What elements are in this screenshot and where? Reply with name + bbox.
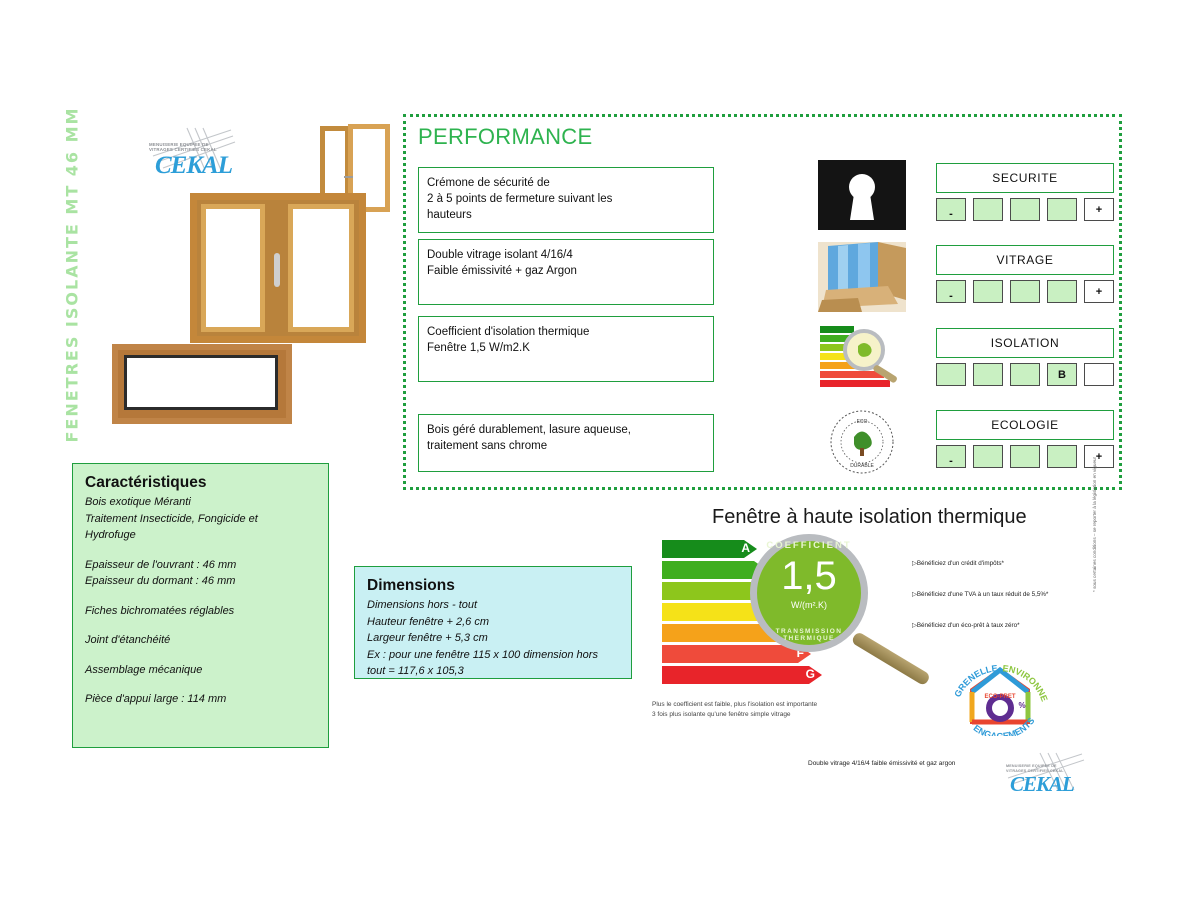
coefficient-value: 1,5 [750, 556, 868, 596]
performance-item-3-line1: Bois géré durablement, lasure aqueuse, [427, 422, 705, 438]
legal-sidenote: * sous certaines conditions – se reporte… [1092, 457, 1097, 592]
thermal-footnote-line2: 3 fois plus isolante qu'une fenêtre simp… [652, 710, 817, 720]
energy-magnifier-glyph [818, 324, 906, 394]
energy-magnifier-icon [818, 324, 906, 394]
performance-item-1: Double vitrage isolant 4/16/4 Faible émi… [418, 239, 714, 305]
rating-cell[interactable]: + [1084, 445, 1114, 468]
rating-cell[interactable] [973, 363, 1003, 386]
caracteristiques-line-2: Hydrofuge [85, 527, 316, 544]
rating-label-isolation: ISOLATION [936, 328, 1114, 358]
benefit-item-2: ▷Bénéficiez d'un éco-prêt à taux zéro* [912, 622, 1082, 629]
svg-text:DURABLE: DURABLE [850, 463, 874, 469]
rating-row-isolation: ISOLATION B [818, 328, 1118, 388]
rating-cell[interactable] [1010, 280, 1040, 303]
glazing-note: Double vitrage 4/16/4 faible émissivité … [808, 760, 955, 767]
slide-canvas: FENETRES ISOLANTE MT 46 MM MENUISERIE EQ… [0, 0, 1202, 901]
caracteristiques-line-1: Traitement Insecticide, Fongicide et [85, 511, 316, 528]
thermal-footnote: Plus le coefficient est faible, plus l'i… [652, 700, 817, 720]
cekal-logo-wordmark: CEKAL [1010, 772, 1074, 797]
performance-item-0: Crémone de sécurité de 2 à 5 points de f… [418, 167, 714, 233]
dimensions-panel: Dimensions Dimensions hors - tout Hauteu… [354, 566, 632, 679]
window-image-main [190, 193, 366, 343]
glazing-photo-glyph [818, 242, 906, 312]
rating-cells-ecologie: - + [936, 445, 1114, 468]
caracteristiques-fiches: Fiches bichromatées réglables [85, 603, 316, 620]
rating-cell[interactable] [1047, 198, 1077, 221]
keyhole-icon [818, 160, 906, 230]
energy-bar-letter-g: G [806, 667, 815, 681]
svg-text:%: % [1018, 701, 1025, 710]
rating-cell[interactable] [973, 445, 1003, 468]
coefficient-magnifier: COEFFICIENT 1,5 W/(m².K) TRANSMISSION TH… [750, 534, 874, 658]
energy-bar-letter-a: A [741, 541, 750, 555]
eco-tree-stamp-glyph: ECO DURABLE [818, 407, 906, 477]
dimensions-title: Dimensions [367, 577, 619, 595]
rating-cells-securite: - + [936, 198, 1114, 221]
caracteristiques-panel: Caractéristiques Bois exotique Méranti T… [72, 463, 329, 748]
rating-cell[interactable] [1047, 445, 1077, 468]
dimensions-line-4: tout = 117,6 x 105,3 [367, 663, 619, 680]
rating-label-ecologie: ECOLOGIE [936, 410, 1114, 440]
magnifier-bottom-label: TRANSMISSION THERMIQUE [750, 628, 868, 642]
rating-cell[interactable]: - [936, 280, 966, 303]
dimensions-line-0: Dimensions hors - tout [367, 597, 619, 614]
caracteristiques-dormant: Epaisseur du dormant : 46 mm [85, 573, 316, 590]
performance-item-0-line3: hauteurs [427, 207, 705, 223]
rating-label-vitrage: VITRAGE [936, 245, 1114, 275]
caracteristiques-line-0: Bois exotique Méranti [85, 494, 316, 511]
caracteristiques-title: Caractéristiques [85, 474, 316, 492]
caracteristiques-joint: Joint d'étanchéité [85, 632, 316, 649]
caracteristiques-ouvrant: Epaisseur de l'ouvrant : 46 mm [85, 557, 316, 574]
energy-bar-b [662, 561, 754, 579]
rating-cell[interactable] [1047, 280, 1077, 303]
performance-item-2: Coefficient d'isolation thermique Fenêtr… [418, 316, 714, 382]
dimensions-line-1: Hauteur fenêtre + 2,6 cm [367, 614, 619, 631]
cekal-logo-wordmark: CEKAL [155, 152, 232, 180]
rating-cell[interactable]: - [936, 445, 966, 468]
window-image-awning [112, 344, 292, 424]
rating-row-securite: SECURITE - + [818, 163, 1118, 223]
rating-cell-grade-b[interactable]: B [1047, 363, 1077, 386]
caracteristiques-appui: Pièce d'appui large : 114 mm [85, 691, 316, 708]
rating-cell[interactable] [1010, 198, 1040, 221]
rating-cell[interactable] [1010, 363, 1040, 386]
energy-bar-a: A [662, 540, 744, 558]
rating-row-vitrage: VITRAGE - + [818, 245, 1118, 305]
dimensions-line-3: Ex : pour une fenêtre 115 x 100 dimensio… [367, 647, 619, 664]
magnifier-top-label: COEFFICIENT [750, 540, 868, 551]
caracteristiques-assemblage: Assemblage mécanique [85, 662, 316, 679]
performance-item-0-line2: 2 à 5 points de fermeture suivant les [427, 191, 705, 207]
rating-cell[interactable]: - [936, 198, 966, 221]
thermal-title: Fenêtre à haute isolation thermique [712, 506, 1027, 529]
rating-row-ecologie: ECO DURABLE ECOLOGIE - + [818, 410, 1118, 470]
vertical-product-title: FENETRES ISOLANTE MT 46 MM [63, 113, 82, 443]
benefit-item-0: ▷Bénéficiez d'un crédit d'impôts* [912, 560, 1082, 567]
rating-cell[interactable]: + [1084, 280, 1114, 303]
rating-cells-vitrage: - + [936, 280, 1114, 303]
performance-item-1-line1: Double vitrage isolant 4/16/4 [427, 247, 705, 263]
coefficient-unit: W/(m².K) [750, 600, 868, 610]
performance-item-3-line2: traitement sans chrome [427, 438, 705, 454]
rating-cell[interactable] [1010, 445, 1040, 468]
performance-item-0-line1: Crémone de sécurité de [427, 175, 705, 191]
svg-text:ECO-PRET: ECO-PRET [984, 694, 1015, 700]
energy-label-graphic: A F G COEFFICIENT 1,5 W/(m².K) TRANSM [662, 540, 877, 690]
rating-cell[interactable] [973, 280, 1003, 303]
thermal-footnote-line1: Plus le coefficient est faible, plus l'i… [652, 700, 817, 710]
performance-item-3: Bois géré durablement, lasure aqueuse, t… [418, 414, 714, 472]
rating-cell[interactable] [1084, 363, 1114, 386]
benefit-item-1: ▷Bénéficiez d'une TVA à un taux réduit d… [912, 591, 1082, 598]
performance-item-2-line2: Fenêtre 1,5 W/m2.K [427, 340, 705, 356]
rating-cell[interactable]: + [1084, 198, 1114, 221]
svg-text:ECO: ECO [857, 419, 868, 425]
rating-cell[interactable] [973, 198, 1003, 221]
keyhole-glyph [818, 160, 906, 230]
cekal-logo-top: MENUISERIE EQUIPEE DEVITRAGES CERTIFIES … [143, 126, 241, 186]
performance-item-2-line1: Coefficient d'isolation thermique [427, 324, 705, 340]
rating-label-securite: SECURITE [936, 163, 1114, 193]
cekal-logo-bottom: MENUISERIE EQUIPEE DEVITRAGES CERTIFIES … [1000, 752, 1090, 802]
glazing-photo-icon [818, 242, 906, 312]
performance-item-1-line2: Faible émissivité + gaz Argon [427, 263, 705, 279]
dimensions-line-2: Largeur fenêtre + 5,3 cm [367, 630, 619, 647]
performance-title: PERFORMANCE [418, 124, 592, 150]
grenelle-badge-graphic: ECO-PRET % GRENELLE ENVIRONNEMENT ENGAGE… [952, 650, 1048, 736]
rating-cell[interactable] [936, 363, 966, 386]
energy-bar-g: G [662, 666, 809, 684]
grenelle-environnement-badge: ECO-PRET % GRENELLE ENVIRONNEMENT ENGAGE… [952, 650, 1048, 736]
benefits-list: ▷Bénéficiez d'un crédit d'impôts* ▷Bénéf… [912, 560, 1082, 653]
rating-cells-isolation: B [936, 363, 1114, 386]
eco-tree-stamp-icon: ECO DURABLE [818, 407, 906, 477]
